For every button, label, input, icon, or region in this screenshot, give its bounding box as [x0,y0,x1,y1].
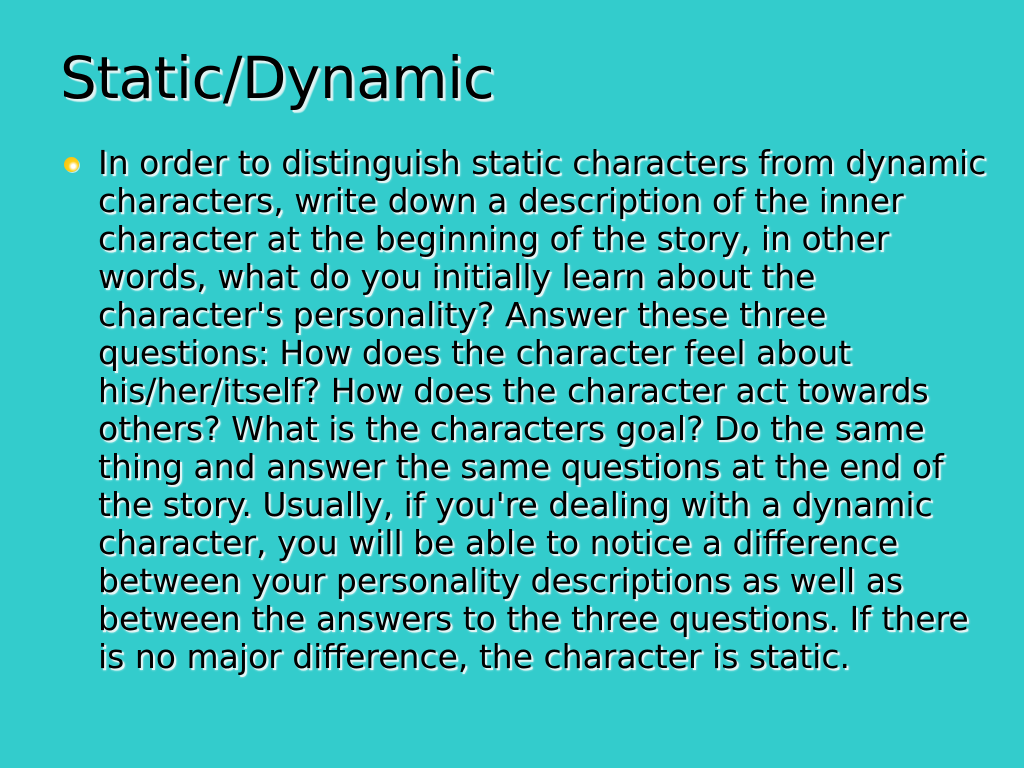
page-title: Static/Dynamic [60,44,980,112]
bullet-dot-icon [64,157,79,172]
list-item-label: In order to distinguish static character… [98,143,986,676]
slide-body: In order to distinguish static character… [60,144,990,676]
slide-canvas: Static/Dynamic In order to distinguish s… [0,0,1024,768]
list-item: In order to distinguish static character… [60,144,990,676]
